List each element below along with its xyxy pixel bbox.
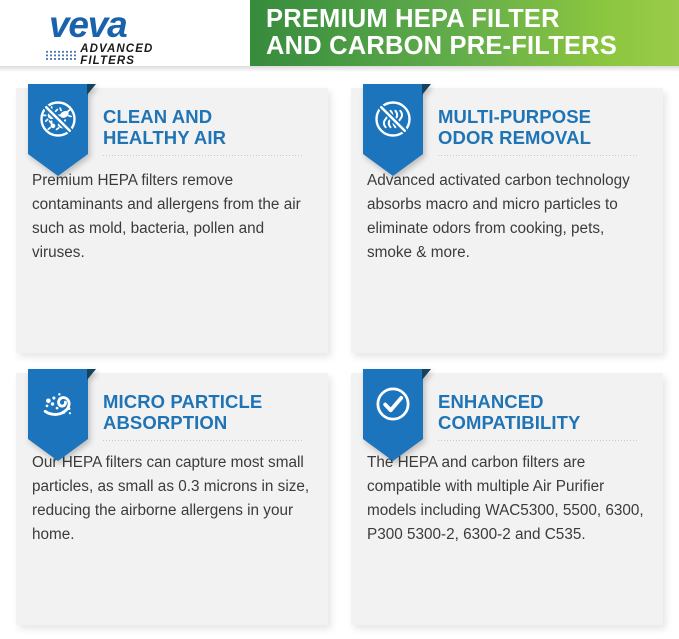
header-banner-title: PREMIUM HEPA FILTER AND CARBON PRE-FILTE… bbox=[266, 6, 617, 61]
card-header: CLEAN AND HEALTHY AIR bbox=[16, 88, 328, 160]
card-title-block: MULTI-PURPOSE ODOR REMOVAL bbox=[438, 88, 652, 156]
card-badge bbox=[28, 84, 88, 176]
feature-card: CLEAN AND HEALTHY AIR Premium HEPA filte… bbox=[16, 88, 328, 353]
card-title: ENHANCED COMPATIBILITY bbox=[438, 392, 638, 434]
card-header: ENHANCED COMPATIBILITY bbox=[351, 373, 663, 445]
card-header: MULTI-PURPOSE ODOR REMOVAL bbox=[351, 88, 663, 160]
card-title-block: ENHANCED COMPATIBILITY bbox=[438, 373, 652, 441]
badge-fold-corner bbox=[87, 84, 96, 95]
feature-card: MULTI-PURPOSE ODOR REMOVAL Advanced acti… bbox=[351, 88, 663, 353]
feature-cards-grid: CLEAN AND HEALTHY AIR Premium HEPA filte… bbox=[0, 88, 679, 625]
logo-tagline-row: ADVANCED FILTERS bbox=[45, 44, 195, 67]
logo-wordmark: veva bbox=[45, 6, 195, 43]
page-header: PREMIUM HEPA FILTER AND CARBON PRE-FILTE… bbox=[0, 0, 679, 72]
no-germs-icon bbox=[36, 97, 80, 141]
no-odor-waves-icon bbox=[371, 97, 415, 141]
feature-card: ENHANCED COMPATIBILITY The HEPA and carb… bbox=[351, 373, 663, 625]
card-title: CLEAN AND HEALTHY AIR bbox=[103, 107, 303, 149]
title-divider bbox=[103, 440, 303, 441]
title-divider bbox=[438, 440, 638, 441]
card-title: MICRO PARTICLE ABSORPTION bbox=[103, 392, 303, 434]
badge-fold-corner bbox=[422, 369, 431, 380]
particle-swirl-icon bbox=[36, 382, 80, 426]
card-title-block: CLEAN AND HEALTHY AIR bbox=[103, 88, 317, 156]
header-green-banner: PREMIUM HEPA FILTER AND CARBON PRE-FILTE… bbox=[190, 0, 679, 66]
card-title-block: MICRO PARTICLE ABSORPTION bbox=[103, 373, 317, 441]
logo-tagline: ADVANCED FILTERS bbox=[80, 44, 195, 67]
veva-logo: veva ADVANCED FILTERS bbox=[45, 6, 195, 67]
badge-fold-corner bbox=[87, 369, 96, 380]
card-body-text: Our HEPA filters can capture most small … bbox=[16, 445, 328, 564]
badge-fold-corner bbox=[422, 84, 431, 95]
card-badge bbox=[363, 84, 423, 176]
card-header: MICRO PARTICLE ABSORPTION bbox=[16, 373, 328, 445]
check-circle-icon bbox=[371, 382, 415, 426]
title-divider bbox=[103, 155, 303, 156]
feature-card: MICRO PARTICLE ABSORPTION Our HEPA filte… bbox=[16, 373, 328, 625]
card-body-text: Premium HEPA filters remove contaminants… bbox=[16, 160, 328, 282]
card-title: MULTI-PURPOSE ODOR REMOVAL bbox=[438, 107, 638, 149]
card-badge bbox=[363, 369, 423, 461]
card-badge bbox=[28, 369, 88, 461]
card-body-text: The HEPA and carbon filters are compatib… bbox=[351, 445, 663, 564]
halftone-dots-icon bbox=[45, 50, 76, 61]
card-body-text: Advanced activated carbon technology abs… bbox=[351, 160, 663, 282]
title-divider bbox=[438, 155, 638, 156]
